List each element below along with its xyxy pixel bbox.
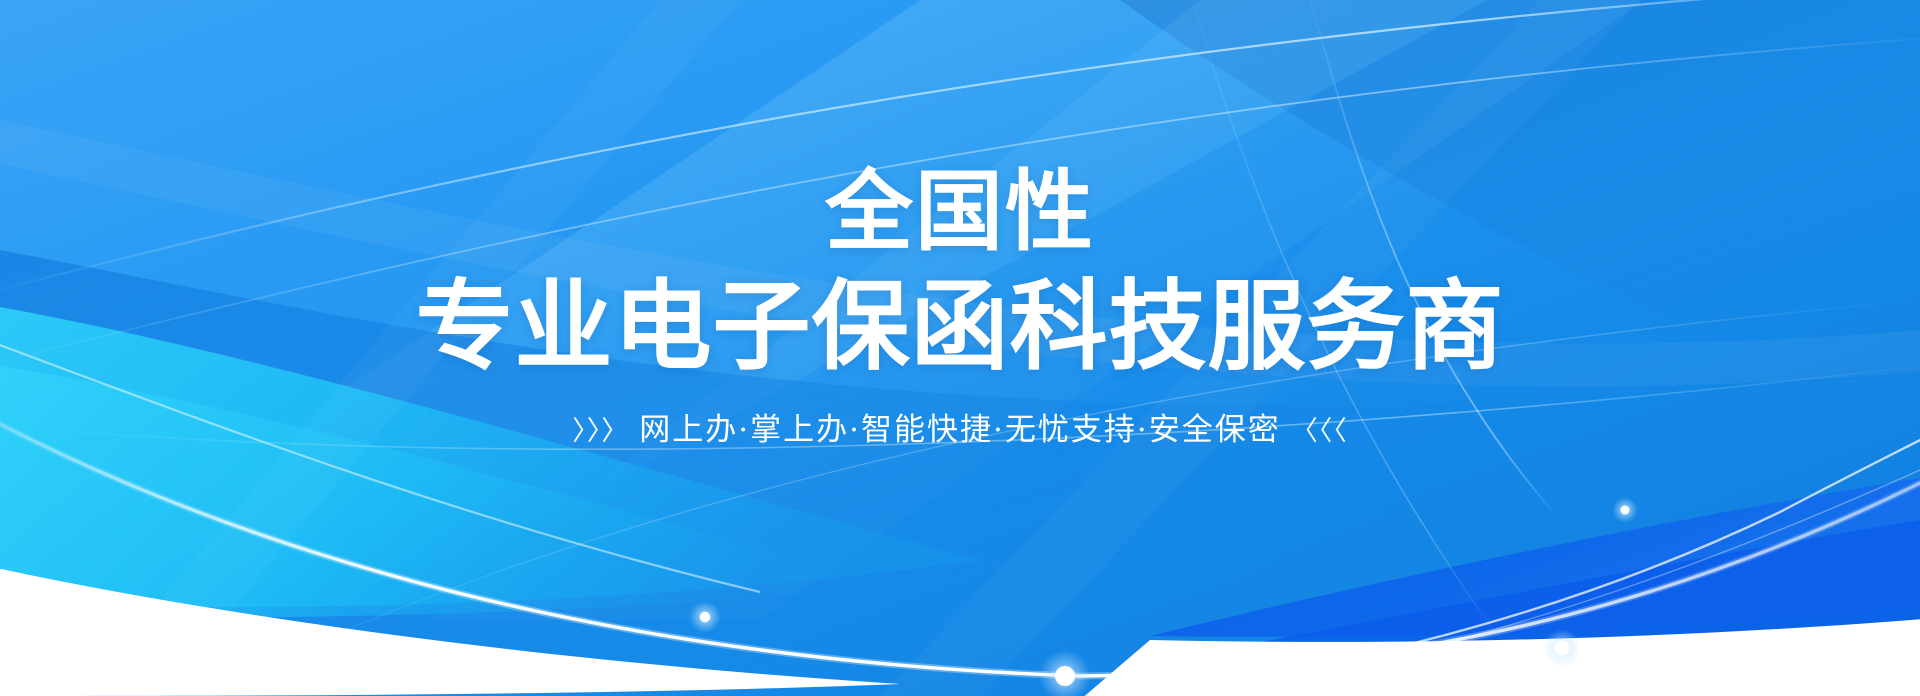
hero-banner: 全国性 专业电子保函科技服务商 〉〉〉网上办·掌上办·智能快捷·无忧支持·安全保… [0,0,1920,696]
banner-background-graphic [0,0,1920,696]
